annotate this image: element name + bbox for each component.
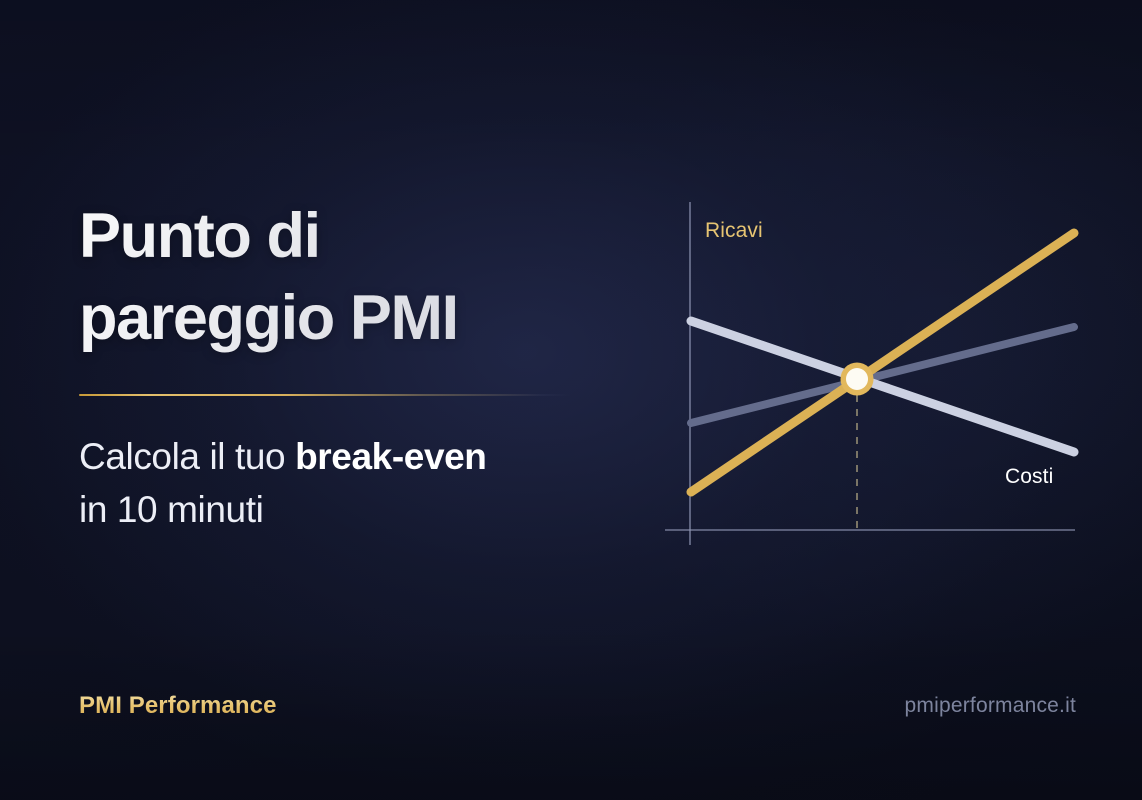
series-line-ricavi [691,233,1074,492]
headline-line-1: Punto di [79,196,619,278]
subtitle-line-1: Calcola il tuo break-even [79,431,619,484]
gold-divider [79,394,571,396]
brand-name: PMI Performance [79,692,277,720]
subtitle-line-2: in 10 minuti [79,484,619,537]
page-title: Punto di pareggio PMI [79,196,619,360]
subtitle-prefix: Calcola il tuo [79,436,295,477]
website-url: pmiperformance.it [905,694,1076,718]
subtitle-emphasis: break-even [295,436,486,477]
slide-canvas: Punto di pareggio PMI Calcola il tuo bre… [0,0,1142,800]
headline-line-2: pareggio PMI [79,278,619,360]
subtitle: Calcola il tuo break-even in 10 minuti [79,431,619,536]
break-even-marker-core [846,368,868,390]
chart-label-costi: Costi [1005,465,1053,489]
chart-label-ricavi: Ricavi [705,219,763,243]
break-even-chart: Ricavi Costi [655,180,1095,560]
